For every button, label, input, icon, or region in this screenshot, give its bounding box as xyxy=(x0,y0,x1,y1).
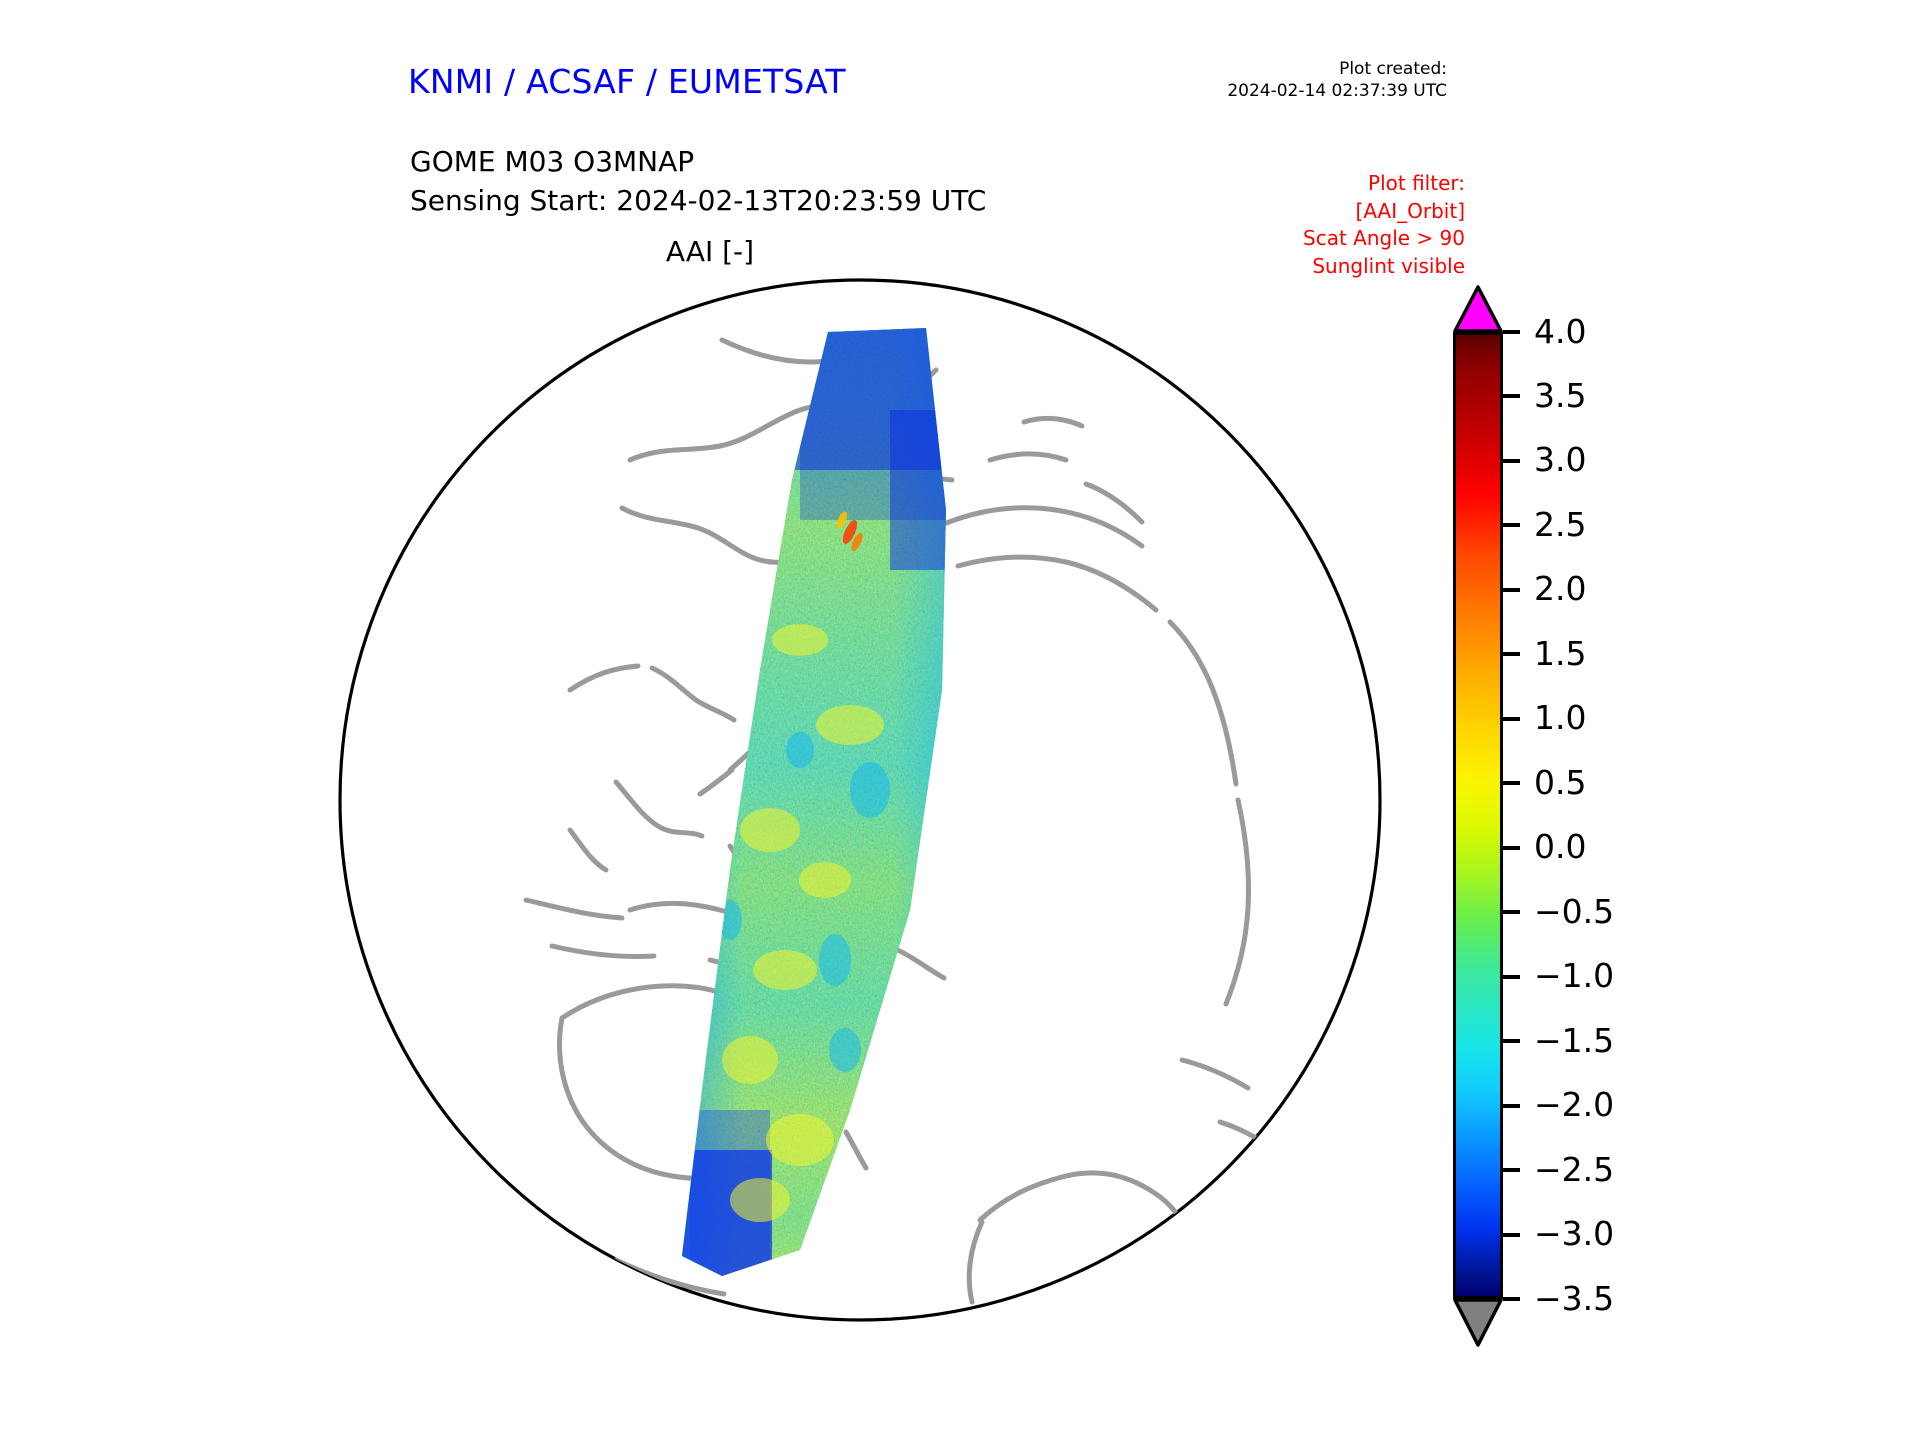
colorbar-tick-mark xyxy=(1503,652,1520,656)
colorbar-tick-mark xyxy=(1503,1039,1520,1043)
colorbar-tick-label: 2.5 xyxy=(1534,508,1586,541)
page-title: AAI [-] xyxy=(410,235,1010,268)
colorbar-tick-mark xyxy=(1503,330,1520,334)
globe-map xyxy=(330,270,1390,1330)
colorbar-tick-mark xyxy=(1503,781,1520,785)
colorbar-tick-label: 1.0 xyxy=(1534,701,1586,734)
colorbar-tick-label: −1.0 xyxy=(1534,959,1614,992)
colorbar-tick-label: 3.5 xyxy=(1534,379,1586,412)
colorbar-tick-mark xyxy=(1503,459,1520,463)
plot-filter-name: [AAI_Orbit] xyxy=(1303,198,1465,226)
colorbar-tick-label: 0.0 xyxy=(1534,830,1586,863)
instrument-product-line: GOME M03 O3MNAP xyxy=(410,142,986,181)
colorbar-tick-label: −2.5 xyxy=(1534,1153,1614,1186)
plot-filter-block: Plot filter: [AAI_Orbit] Scat Angle > 90… xyxy=(1303,170,1465,280)
colorbar-tick-mark xyxy=(1503,394,1520,398)
product-info-block: GOME M03 O3MNAP Sensing Start: 2024-02-1… xyxy=(410,142,986,220)
colorbar-tick-mark xyxy=(1503,717,1520,721)
colorbar: 4.03.53.02.52.01.51.00.50.0−0.5−1.0−1.5−… xyxy=(1443,285,1723,1315)
colorbar-tick-mark xyxy=(1503,975,1520,979)
colorbar-ticks: 4.03.53.02.52.01.51.00.50.0−0.5−1.0−1.5−… xyxy=(1443,285,1723,1315)
colorbar-tick-mark xyxy=(1503,846,1520,850)
globe-svg xyxy=(330,270,1390,1330)
colorbar-tick-mark xyxy=(1503,1297,1520,1301)
colorbar-tick-label: −2.0 xyxy=(1534,1088,1614,1121)
colorbar-tick-label: 2.0 xyxy=(1534,572,1586,605)
sensing-start-line: Sensing Start: 2024-02-13T20:23:59 UTC xyxy=(410,181,986,220)
colorbar-tick-mark xyxy=(1503,1104,1520,1108)
colorbar-tick-mark xyxy=(1503,1168,1520,1172)
colorbar-tick-label: 0.5 xyxy=(1534,766,1586,799)
colorbar-tick-label: 3.0 xyxy=(1534,443,1586,476)
plot-created-label: Plot created: xyxy=(1227,58,1447,80)
colorbar-tick-mark xyxy=(1503,1233,1520,1237)
colorbar-tick-label: −3.5 xyxy=(1534,1282,1614,1315)
colorbar-tick-label: −3.0 xyxy=(1534,1217,1614,1250)
colorbar-tick-mark xyxy=(1503,588,1520,592)
plot-filter-title: Plot filter: xyxy=(1303,170,1465,198)
colorbar-tick-label: −0.5 xyxy=(1534,895,1614,928)
organization-title: KNMI / ACSAF / EUMETSAT xyxy=(408,62,846,101)
colorbar-tick-label: −1.5 xyxy=(1534,1024,1614,1057)
colorbar-tick-label: 4.0 xyxy=(1534,315,1586,348)
colorbar-tick-label: 1.5 xyxy=(1534,637,1586,670)
plot-created-block: Plot created: 2024-02-14 02:37:39 UTC xyxy=(1227,58,1447,103)
colorbar-tick-mark xyxy=(1503,523,1520,527)
colorbar-tick-mark xyxy=(1503,910,1520,914)
plot-created-timestamp: 2024-02-14 02:37:39 UTC xyxy=(1227,80,1447,102)
plot-filter-condition: Scat Angle > 90 xyxy=(1303,225,1465,253)
